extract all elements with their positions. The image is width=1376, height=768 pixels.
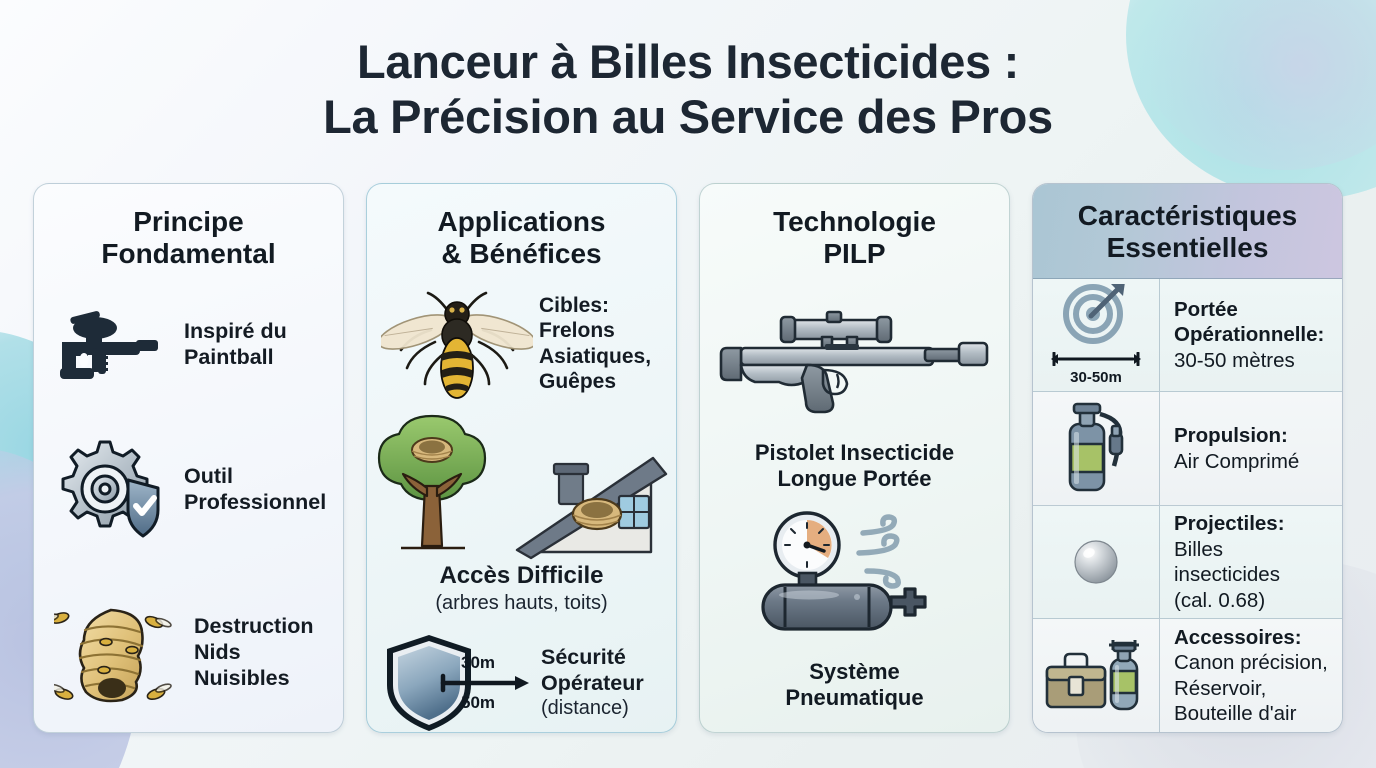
range-dimension-label: 30-50m	[1070, 369, 1122, 386]
tree-nest-icon	[373, 410, 491, 560]
panel-2-title-line-2: & Bénéfices	[367, 238, 676, 270]
list-item-label-line-2: Professionnel	[184, 490, 326, 516]
rifle-caption-line-1: Pistolet Insecticide	[755, 440, 954, 466]
accessories-value-line-2: Réservoir,	[1174, 676, 1334, 701]
safety-line-1: Sécurité	[541, 645, 644, 671]
targets-line-1: Cibles:	[539, 293, 651, 319]
panel-4-title: Caractéristiques Essentielles	[1043, 200, 1332, 264]
panel-2-items: Cibles: Frelons Asiatiques, Guêpes	[367, 270, 676, 733]
table-cell-text: Accessoires: Canon précision, Réservoir,…	[1160, 621, 1342, 731]
safety-sub: (distance)	[541, 696, 644, 720]
propulsion-value: Air Comprimé	[1174, 449, 1334, 474]
projectiles-label: Projectiles:	[1174, 511, 1334, 536]
panel-4-title-line-1: Caractéristiques	[1043, 200, 1332, 232]
accessories-value-line-1: Canon précision,	[1174, 650, 1334, 675]
difficult-access-label: Accès Difficile	[381, 562, 662, 591]
safety-line-2: Opérateur	[541, 671, 644, 697]
panel-1-title-line-1: Principe	[34, 206, 343, 238]
asian-hornet-icon	[381, 284, 533, 404]
table-cell-text: Propulsion: Air Comprimé	[1160, 419, 1342, 478]
compressed-air-cylinder-icon	[1052, 400, 1140, 498]
table-cell-icon: 30-50m	[1033, 279, 1160, 392]
scoped-rifle-icon	[719, 304, 991, 414]
accessories-value-line-3: Bouteille d'air	[1174, 701, 1334, 726]
targets-line-4: Guêpes	[539, 369, 651, 395]
targets-line-2: Frelons	[539, 318, 651, 344]
roof-nest-icon	[501, 440, 671, 560]
range-dimension-icon	[1050, 352, 1142, 366]
table-row: 30-50m Portée Opérationnelle: 30-50 mètr…	[1033, 279, 1342, 393]
propulsion-label: Propulsion:	[1174, 423, 1334, 448]
panel-3-title-line-2: PILP	[700, 238, 1009, 270]
targets-line-3: Asiatiques,	[539, 344, 651, 370]
table-row: Projectiles: Billes insecticides (cal. 0…	[1033, 506, 1342, 620]
panels-row: Principe Fondamental	[33, 183, 1343, 733]
target-arrow-icon	[1053, 284, 1139, 350]
panel-3-title-line-1: Technologie	[700, 206, 1009, 238]
panel-3-caption-1: Pistolet Insecticide Longue Portée	[755, 440, 954, 493]
table-body: 30-50m Portée Opérationnelle: 30-50 mètr…	[1033, 279, 1342, 732]
table-cell-text: Portée Opérationnelle: 30-50 mètres	[1160, 293, 1342, 377]
list-item: Outil Professionnel	[54, 438, 325, 542]
panel-applications-benefices: Applications & Bénéfices	[366, 183, 677, 733]
list-item: Cibles: Frelons Asiatiques, Guêpes	[381, 284, 662, 404]
list-item: 30m 50m Sécurité Opérateur	[381, 631, 662, 733]
table-row: Propulsion: Air Comprimé	[1033, 392, 1342, 506]
range-label-line-1: Portée	[1174, 297, 1334, 322]
panel-4-title-line-2: Essentielles	[1043, 232, 1332, 264]
distance-near-label: 30m	[461, 653, 495, 673]
distance-far-label: 50m	[461, 693, 495, 713]
range-value: 30-50 mètres	[1174, 348, 1334, 373]
table-cell-icon	[1033, 392, 1160, 505]
table-header: Caractéristiques Essentielles	[1033, 184, 1342, 279]
table-cell-icon	[1033, 619, 1160, 732]
panel-3-items: Pistolet Insecticide Longue Portée	[700, 270, 1009, 712]
panel-1-items: Inspiré du Paintball	[34, 270, 343, 712]
list-item: Inspiré du Paintball	[54, 304, 325, 386]
distance-arrow-icon	[439, 673, 531, 693]
page-title: Lanceur à Billes Insecticides : La Préci…	[0, 34, 1376, 145]
list-item: Destruction Nids Nuisibles	[54, 594, 325, 712]
title-line-2: La Précision au Service des Pros	[0, 89, 1376, 144]
panel-1-title: Principe Fondamental	[34, 184, 343, 270]
gear-shield-check-icon	[54, 438, 166, 542]
panel-principe-fondamental: Principe Fondamental	[33, 183, 344, 733]
list-item-label-line-1: Inspiré du	[184, 319, 287, 345]
panel-1-title-line-2: Fondamental	[34, 238, 343, 270]
list-item-label: Outil Professionnel	[180, 464, 326, 516]
list-item-label: Sécurité Opérateur (distance)	[541, 645, 644, 721]
list-item: Accès Difficile (arbres hauts, toits)	[381, 410, 662, 615]
list-item-label-line-1: Outil	[184, 464, 326, 490]
air-tank-gauge-icon	[745, 511, 965, 641]
paintball-marker-icon	[54, 304, 166, 386]
list-item-label-line-2: Nids Nuisibles	[194, 640, 325, 692]
pneumatic-caption-line-1: Système	[785, 659, 923, 685]
projectiles-value-line-1: Billes insecticides	[1174, 537, 1334, 588]
list-item-label-line-1: Destruction	[194, 614, 325, 640]
projectiles-value-line-2: (cal. 0.68)	[1174, 588, 1334, 613]
difficult-access-caption: Accès Difficile (arbres hauts, toits)	[381, 562, 662, 615]
panel-caracteristiques-essentielles: Caractéristiques Essentielles	[1032, 183, 1343, 733]
paintball-sphere-icon	[1068, 534, 1124, 590]
title-line-1: Lanceur à Billes Insecticides :	[0, 34, 1376, 89]
difficult-access-sub: (arbres hauts, toits)	[381, 591, 662, 615]
rifle-caption-line-2: Longue Portée	[755, 466, 954, 492]
panel-technologie-pilp: Technologie PILP	[699, 183, 1010, 733]
pneumatic-caption-line-2: Pneumatique	[785, 685, 923, 711]
accessories-label: Accessoires:	[1174, 625, 1334, 650]
table-cell-icon	[1033, 506, 1160, 619]
infographic-canvas: Lanceur à Billes Insecticides : La Préci…	[0, 0, 1376, 768]
panel-2-title: Applications & Bénéfices	[367, 184, 676, 270]
range-label-line-2: Opérationnelle:	[1174, 322, 1334, 347]
panel-3-title: Technologie PILP	[700, 184, 1009, 270]
difficult-access-icons	[381, 410, 662, 560]
table-cell-text: Projectiles: Billes insecticides (cal. 0…	[1160, 507, 1342, 617]
table-row: Accessoires: Canon précision, Réservoir,…	[1033, 619, 1342, 732]
list-item-label-line-2: Paintball	[184, 345, 287, 371]
list-item-label: Destruction Nids Nuisibles	[190, 614, 325, 691]
panel-2-title-line-1: Applications	[367, 206, 676, 238]
toolbox-and-tank-icon	[1041, 633, 1151, 719]
list-item-label: Inspiré du Paintball	[180, 319, 287, 371]
wasp-nest-hive-icon	[54, 594, 176, 712]
list-item-label: Cibles: Frelons Asiatiques, Guêpes	[539, 293, 651, 395]
panel-3-caption-2: Système Pneumatique	[785, 659, 923, 712]
safety-distance-arrow: 30m 50m	[439, 653, 531, 713]
